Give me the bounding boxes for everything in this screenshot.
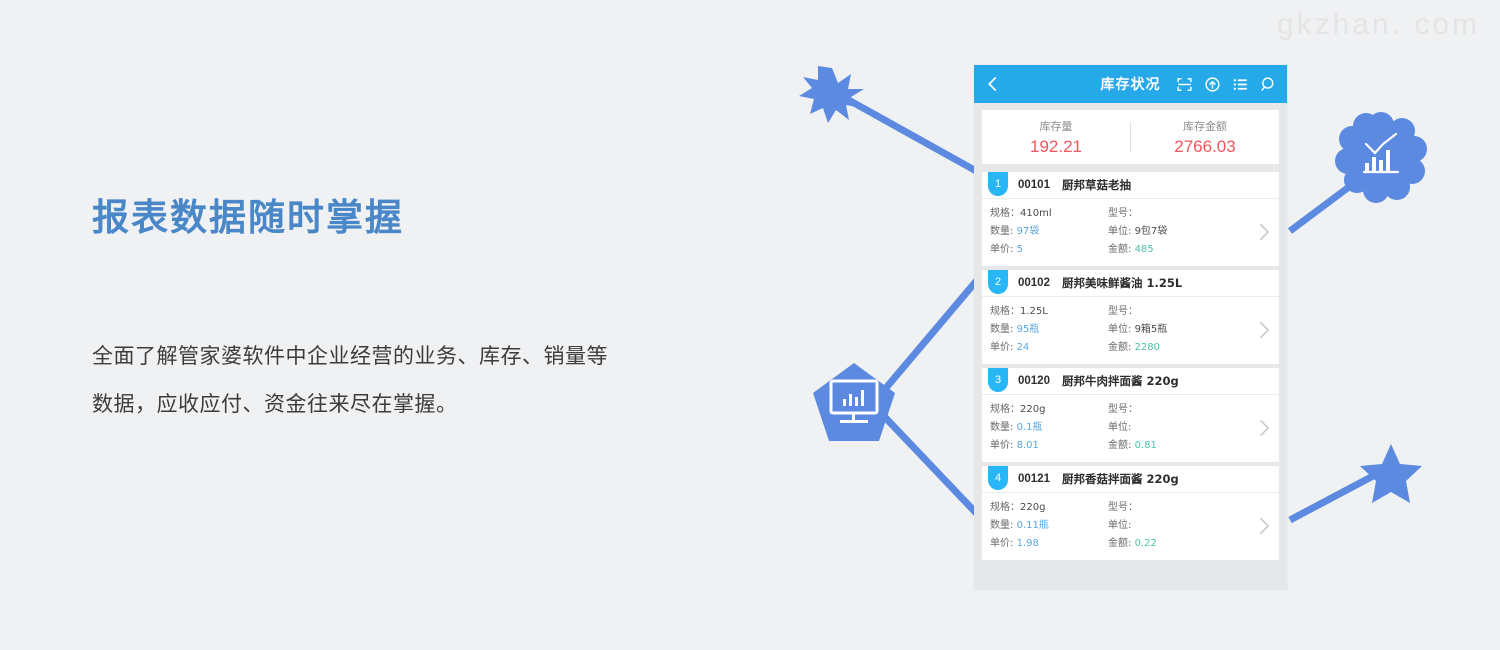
detail-price: 单价: 5	[990, 241, 1108, 259]
summary-label: 库存量	[982, 118, 1130, 134]
list-item-body: 规格：220g 数量: 0.1瓶 单价: 8.01 型号： 单位: 金额: 0.…	[982, 395, 1279, 462]
app-header: 库存状况	[974, 65, 1287, 103]
list-item-header: 1 00101 厨邦草菇老抽	[982, 172, 1279, 199]
detail-amount: 金额: 0.81	[1108, 437, 1248, 455]
chevron-right-icon[interactable]	[1259, 321, 1270, 339]
list-item-body: 规格：410ml 数量: 97袋 单价: 5 型号： 单位: 9包7袋 金额: …	[982, 199, 1279, 266]
product-name: 厨邦牛肉拌面酱 220g	[1062, 373, 1179, 389]
starburst-badge	[799, 66, 864, 123]
detail-value-amount: 0.22	[1135, 538, 1157, 549]
detail-spec: 规格：410ml	[990, 205, 1108, 223]
detail-label-unit: 单位:	[1108, 226, 1131, 237]
detail-column-right: 型号： 单位: 金额: 0.22	[1108, 499, 1248, 553]
detail-label-qty: 数量:	[990, 324, 1013, 335]
detail-column-right: 型号： 单位: 9箱5瓶 金额: 2280	[1108, 303, 1248, 357]
detail-value-qty: 95瓶	[1017, 324, 1040, 335]
detail-value-unit: 9箱5瓶	[1135, 324, 1168, 335]
detail-amount: 金额: 485	[1108, 241, 1248, 259]
detail-column-left: 规格：220g 数量: 0.11瓶 单价: 1.98	[990, 499, 1108, 553]
list-item-header: 2 00102 厨邦美味鲜酱油 1.25L	[982, 270, 1279, 297]
scan-icon[interactable]	[1176, 76, 1193, 93]
list-item[interactable]: 3 00120 厨邦牛肉拌面酱 220g 规格：220g 数量: 0.1瓶 单价…	[982, 368, 1279, 462]
detail-value-spec: 220g	[1020, 502, 1045, 513]
connector-line-right-bottom	[1290, 466, 1392, 520]
product-code: 00102	[1018, 277, 1050, 289]
detail-column-left: 规格：220g 数量: 0.1瓶 单价: 8.01	[990, 401, 1108, 455]
product-name: 厨邦美味鲜酱油 1.25L	[1062, 275, 1182, 291]
monitor-chart-icon	[831, 381, 877, 423]
detail-column-left: 规格：1.25L 数量: 95瓶 单价: 24	[990, 303, 1108, 357]
product-code: 00120	[1018, 375, 1050, 387]
list-item[interactable]: 4 00121 厨邦香菇拌面酱 220g 规格：220g 数量: 0.11瓶 单…	[982, 466, 1279, 560]
chevron-right-icon[interactable]	[1259, 419, 1270, 437]
detail-price: 单价: 1.98	[990, 535, 1108, 553]
detail-label-amount: 金额:	[1108, 440, 1131, 451]
detail-value-spec: 1.25L	[1020, 306, 1048, 317]
list-item-header: 4 00121 厨邦香菇拌面酱 220g	[982, 466, 1279, 493]
detail-value-spec: 410ml	[1020, 208, 1052, 219]
detail-value-qty: 0.1瓶	[1017, 422, 1043, 433]
detail-label-unit: 单位:	[1108, 422, 1131, 433]
detail-unit: 单位:	[1108, 419, 1248, 437]
row-number-badge: 2	[988, 270, 1008, 294]
detail-value-amount: 485	[1135, 244, 1154, 255]
phone-footer-space	[974, 564, 1287, 590]
summary-card: 库存量 192.21 库存金额 2766.03	[982, 110, 1279, 164]
detail-label-spec: 规格：	[990, 502, 1020, 513]
detail-value-amount: 0.81	[1135, 440, 1157, 451]
detail-unit: 单位:	[1108, 517, 1248, 535]
detail-value-price: 5	[1017, 244, 1023, 255]
product-code: 00101	[1018, 179, 1050, 191]
row-number-badge: 3	[988, 368, 1008, 392]
star-badge	[1360, 444, 1422, 503]
detail-spec: 规格：1.25L	[990, 303, 1108, 321]
detail-qty: 数量: 97袋	[990, 223, 1108, 241]
product-name: 厨邦香菇拌面酱 220g	[1062, 471, 1179, 487]
marketing-copy: 报表数据随时掌握 全面了解管家婆软件中企业经营的业务、库存、销量等数据，应收应付…	[92, 196, 612, 428]
summary-value: 2766.03	[1131, 137, 1279, 157]
detail-label-qty: 数量:	[990, 422, 1013, 433]
detail-model: 型号：	[1108, 499, 1248, 517]
detail-spec: 规格：220g	[990, 499, 1108, 517]
detail-spec: 规格：220g	[990, 401, 1108, 419]
detail-price: 单价: 8.01	[990, 437, 1108, 455]
detail-column-left: 规格：410ml 数量: 97袋 单价: 5	[990, 205, 1108, 259]
detail-model: 型号：	[1108, 303, 1248, 321]
detail-label-amount: 金额:	[1108, 244, 1131, 255]
upload-circle-icon[interactable]	[1204, 76, 1221, 93]
detail-qty: 数量: 95瓶	[990, 321, 1108, 339]
list-item[interactable]: 2 00102 厨邦美味鲜酱油 1.25L 规格：1.25L 数量: 95瓶 单…	[982, 270, 1279, 364]
row-number-badge: 1	[988, 172, 1008, 196]
summary-label: 库存金额	[1131, 118, 1279, 134]
detail-unit: 单位: 9箱5瓶	[1108, 321, 1248, 339]
list-item-body: 规格：1.25L 数量: 95瓶 单价: 24 型号： 单位: 9箱5瓶 金额:…	[982, 297, 1279, 364]
detail-label-price: 单价:	[990, 342, 1013, 353]
page-root: gkzhan. com 报表数据随时掌握 全面了解管家婆软件中企业经营的业务、库…	[0, 0, 1500, 650]
list-item-header: 3 00120 厨邦牛肉拌面酱 220g	[982, 368, 1279, 395]
detail-label-price: 单价:	[990, 538, 1013, 549]
detail-price: 单价: 24	[990, 339, 1108, 357]
detail-label-price: 单价:	[990, 440, 1013, 451]
detail-column-right: 型号： 单位: 9包7袋 金额: 485	[1108, 205, 1248, 259]
detail-label-spec: 规格：	[990, 306, 1020, 317]
list-icon[interactable]	[1232, 76, 1249, 93]
detail-value-qty: 97袋	[1017, 226, 1040, 237]
detail-label-price: 单价:	[990, 244, 1013, 255]
detail-label-unit: 单位:	[1108, 520, 1131, 531]
list-item[interactable]: 1 00101 厨邦草菇老抽 规格：410ml 数量: 97袋 单价: 5 型号…	[982, 172, 1279, 266]
site-watermark: gkzhan. com	[1277, 8, 1480, 42]
connector-line-top	[836, 93, 978, 172]
detail-amount: 金额: 2280	[1108, 339, 1248, 357]
chevron-right-icon[interactable]	[1259, 517, 1270, 535]
connector-line-right-top	[1290, 160, 1385, 231]
summary-cell-stock-amount: 库存金额 2766.03	[1131, 118, 1279, 157]
detail-label-qty: 数量:	[990, 226, 1013, 237]
scallop-badge-chart	[1335, 112, 1427, 203]
page-paragraph: 全面了解管家婆软件中企业经营的业务、库存、销量等数据，应收应付、资金往来尽在掌握…	[92, 332, 612, 428]
detail-label-qty: 数量:	[990, 520, 1013, 531]
detail-label-model: 型号：	[1108, 502, 1138, 513]
detail-label-model: 型号：	[1108, 208, 1138, 219]
detail-label-model: 型号：	[1108, 306, 1138, 317]
search-icon[interactable]	[1260, 76, 1277, 93]
chevron-right-icon[interactable]	[1259, 223, 1270, 241]
detail-value-qty: 0.11瓶	[1017, 520, 1049, 531]
detail-model: 型号：	[1108, 401, 1248, 419]
app-header-actions	[1176, 76, 1277, 93]
detail-label-unit: 单位:	[1108, 324, 1131, 335]
bar-line-chart-icon	[1364, 134, 1398, 172]
detail-label-amount: 金额:	[1108, 342, 1131, 353]
connector-line-mid-up	[880, 279, 978, 395]
chevron-left-icon[interactable]	[984, 75, 1002, 93]
detail-label-spec: 规格：	[990, 404, 1020, 415]
phone-mockup: 库存状况	[974, 65, 1287, 590]
pentagon-badge-monitor	[813, 363, 895, 441]
page-heading: 报表数据随时掌握	[92, 196, 612, 240]
detail-model: 型号：	[1108, 205, 1248, 223]
detail-label-spec: 规格：	[990, 208, 1020, 219]
detail-value-unit: 9包7袋	[1135, 226, 1168, 237]
inventory-list: 1 00101 厨邦草菇老抽 规格：410ml 数量: 97袋 单价: 5 型号…	[974, 164, 1287, 560]
product-name: 厨邦草菇老抽	[1062, 177, 1131, 193]
connector-line-mid-down	[880, 412, 978, 515]
row-number-badge: 4	[988, 466, 1008, 490]
list-item-body: 规格：220g 数量: 0.11瓶 单价: 1.98 型号： 单位: 金额: 0…	[982, 493, 1279, 560]
summary-value: 192.21	[982, 137, 1130, 157]
summary-cell-stock-qty: 库存量 192.21	[982, 118, 1130, 157]
detail-value-spec: 220g	[1020, 404, 1045, 415]
detail-value-amount: 2280	[1135, 342, 1160, 353]
detail-label-amount: 金额:	[1108, 538, 1131, 549]
detail-unit: 单位: 9包7袋	[1108, 223, 1248, 241]
summary-section: 库存量 192.21 库存金额 2766.03	[974, 103, 1287, 164]
detail-value-price: 8.01	[1017, 440, 1039, 451]
detail-label-model: 型号：	[1108, 404, 1138, 415]
detail-value-price: 24	[1017, 342, 1030, 353]
detail-qty: 数量: 0.1瓶	[990, 419, 1108, 437]
detail-amount: 金额: 0.22	[1108, 535, 1248, 553]
detail-qty: 数量: 0.11瓶	[990, 517, 1108, 535]
product-code: 00121	[1018, 473, 1050, 485]
detail-column-right: 型号： 单位: 金额: 0.81	[1108, 401, 1248, 455]
detail-value-price: 1.98	[1017, 538, 1039, 549]
